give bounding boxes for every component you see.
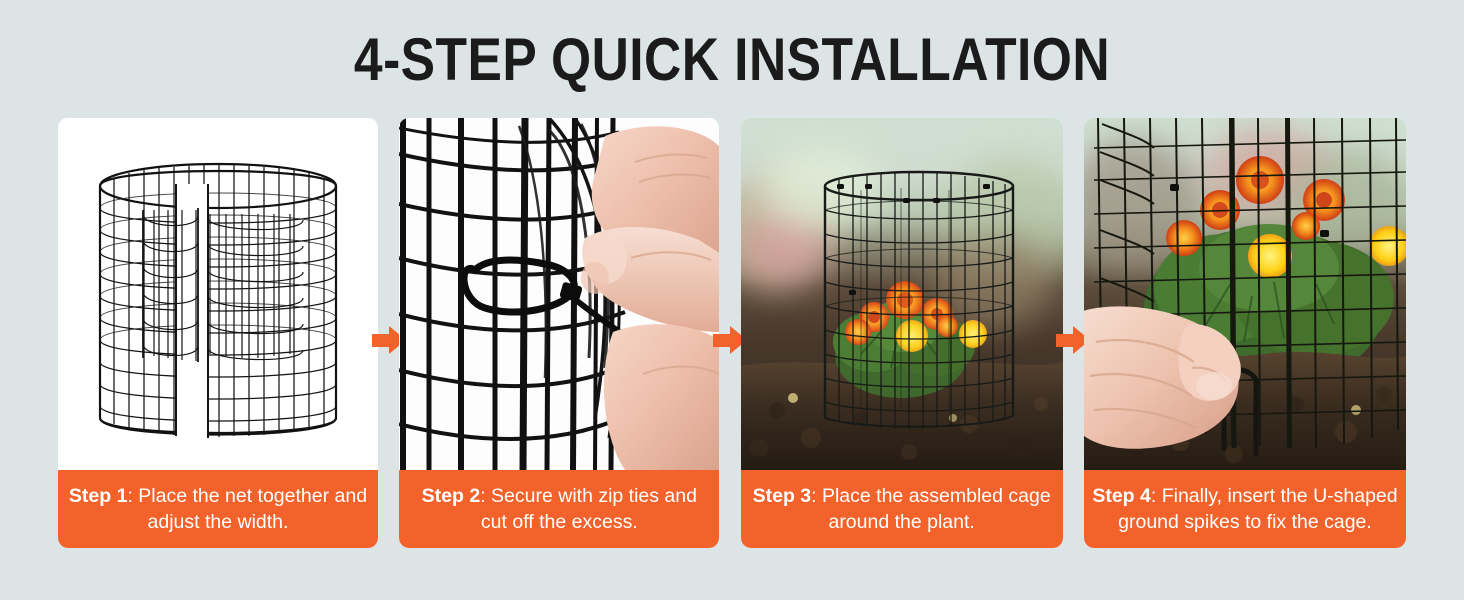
zip-tie-photo — [399, 118, 719, 470]
step-card-3[interactable]: Step 3: Place the assembled cage around … — [741, 118, 1063, 548]
connector-gap-2 — [719, 118, 740, 548]
connector-gap-1 — [378, 118, 399, 548]
step-4-separator: : — [1151, 485, 1162, 507]
step-2-caption: Step 2: Secure with zip ties and cut off… — [399, 470, 719, 548]
step-4-image — [1084, 118, 1406, 470]
step-4-caption-text: Step 4: Finally, insert the U-shaped gro… — [1092, 483, 1398, 535]
garden-photo-cage — [741, 118, 1063, 470]
step-card-2[interactable]: Step 2: Secure with zip ties and cut off… — [399, 118, 719, 548]
step-2-image — [399, 118, 719, 470]
connector-gap-3 — [1063, 118, 1084, 548]
step-3-text: Place the assembled cage around the plan… — [822, 485, 1051, 533]
step-2-text: Secure with zip ties and cut off the exc… — [481, 485, 697, 533]
step-2-label: Step 2 — [422, 485, 481, 507]
step-3-separator: : — [811, 485, 822, 507]
step-3-caption: Step 3: Place the assembled cage around … — [741, 470, 1063, 548]
step-1-label: Step 1 — [69, 485, 128, 507]
installation-infographic: 4-STEP QUICK INSTALLATION — [0, 0, 1464, 600]
step-3-caption-text: Step 3: Place the assembled cage around … — [749, 483, 1055, 535]
step-2-separator: : — [480, 485, 491, 507]
step-1-caption: Step 1: Place the net together and adjus… — [58, 470, 378, 548]
garden-photo-spike — [1084, 118, 1406, 470]
step-2-caption-text: Step 2: Secure with zip ties and cut off… — [407, 483, 711, 535]
step-1-separator: : — [127, 485, 138, 507]
page-title: 4-STEP QUICK INSTALLATION — [102, 28, 1361, 91]
step-1-image — [58, 118, 378, 470]
step-4-caption: Step 4: Finally, insert the U-shaped gro… — [1084, 470, 1406, 548]
step-1-text: Place the net together and adjust the wi… — [138, 485, 367, 533]
step-3-image — [741, 118, 1063, 470]
step-card-1[interactable]: Step 1: Place the net together and adjus… — [58, 118, 378, 548]
step-4-label: Step 4 — [1092, 485, 1151, 507]
wire-cage-illustration — [58, 118, 378, 470]
step-3-label: Step 3 — [753, 485, 812, 507]
step-card-4[interactable]: Step 4: Finally, insert the U-shaped gro… — [1084, 118, 1406, 548]
steps-strip: Step 1: Place the net together and adjus… — [58, 118, 1406, 548]
step-1-caption-text: Step 1: Place the net together and adjus… — [66, 483, 370, 535]
